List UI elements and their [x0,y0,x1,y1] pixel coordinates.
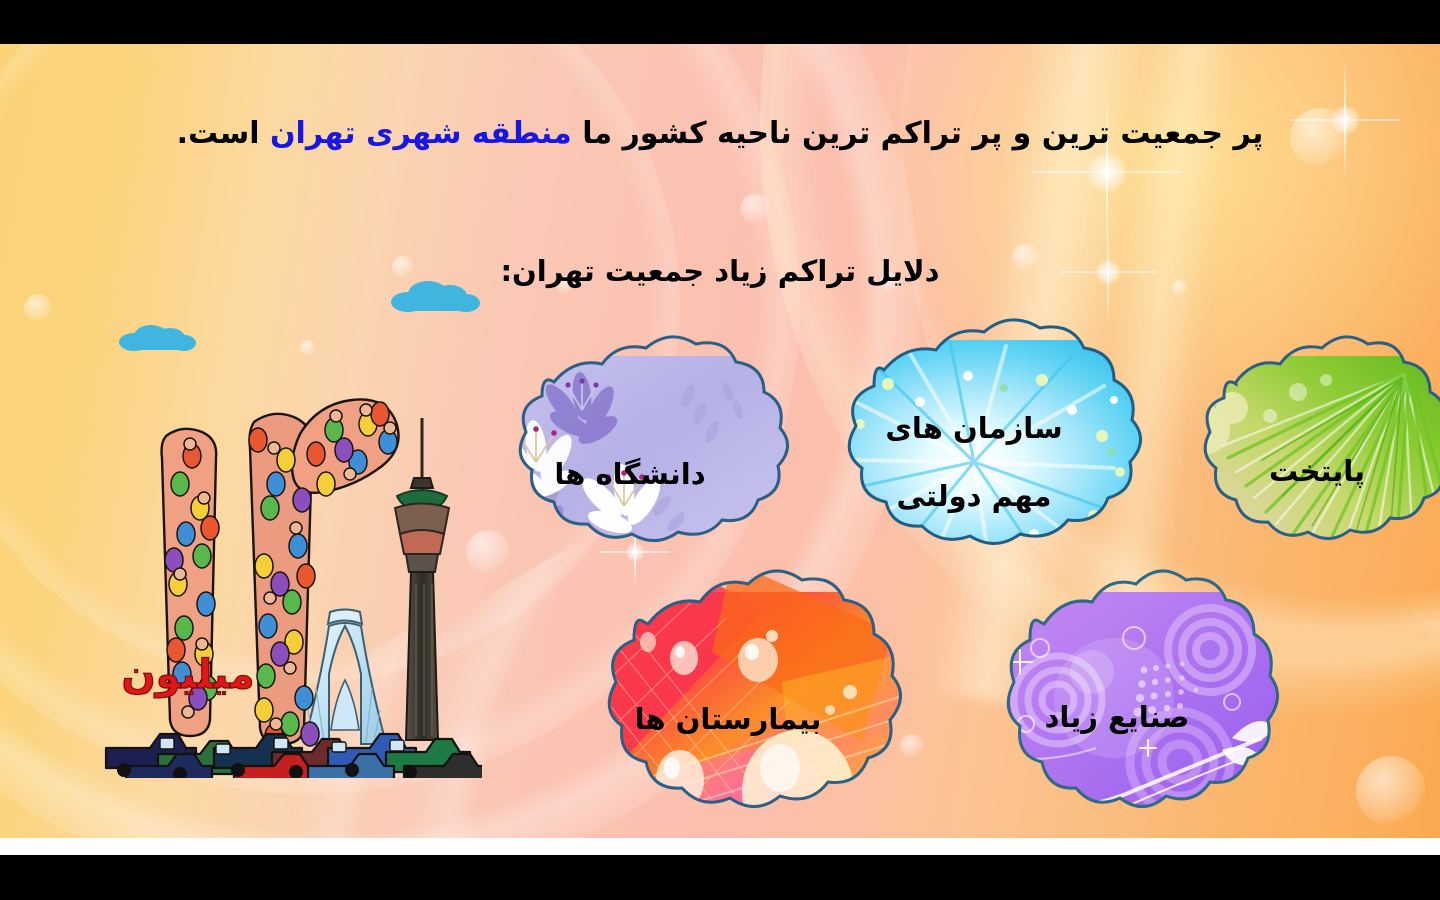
page-title: پر جمعیت ترین و پر تراکم ترین ناحیه کشور… [0,116,1440,151]
letterbox-top [0,0,1440,44]
petal [1090,801,1136,838]
cloud-industries[interactable]: صنایع زیاد [966,592,1276,838]
subtitle: دلایل تراکم زیاد جمعیت تهران: [0,254,1440,288]
title-highlight: منطقه شهری تهران [270,116,572,151]
bubble [640,632,656,652]
letterbox-bottom [0,855,1440,900]
milad-tower [395,418,449,740]
title-segment-1: پر جمعیت ترین و پر تراکم ترین ناحیه کشور… [572,116,1264,151]
bubble [670,641,698,675]
bubble [656,750,704,810]
cloud-government-organizations[interactable]: سازمان های مهم دولتی [796,340,1152,584]
title-segment-2: است. [177,116,270,151]
bokeh-circle [1356,756,1426,826]
slide-canvas: پر جمعیت ترین و پر تراکم ترین ناحیه کشور… [0,44,1440,838]
cloud-capital[interactable]: پایتخت [1166,356,1440,578]
bokeh-circle [740,194,770,224]
bokeh-circle [24,294,52,322]
bubble [1054,638,1174,758]
cloud-hospitals[interactable]: بیمارستان ها [562,592,910,838]
slide-root: پر جمعیت ترین و پر تراکم ترین ناحیه کشور… [0,0,1440,900]
bubble [738,638,778,682]
bokeh-circle [300,340,316,356]
svg-text:میلیون: میلیون [122,652,255,698]
tehran-population-illustration: میلیون [104,388,482,778]
background-mini-cloud [118,321,198,353]
azadi-tower [307,610,383,745]
bottom-white-strip [0,838,1440,855]
illustration-caption-red: میلیون [122,652,255,698]
cloud-universities[interactable]: دانشگاه ها [476,356,796,580]
